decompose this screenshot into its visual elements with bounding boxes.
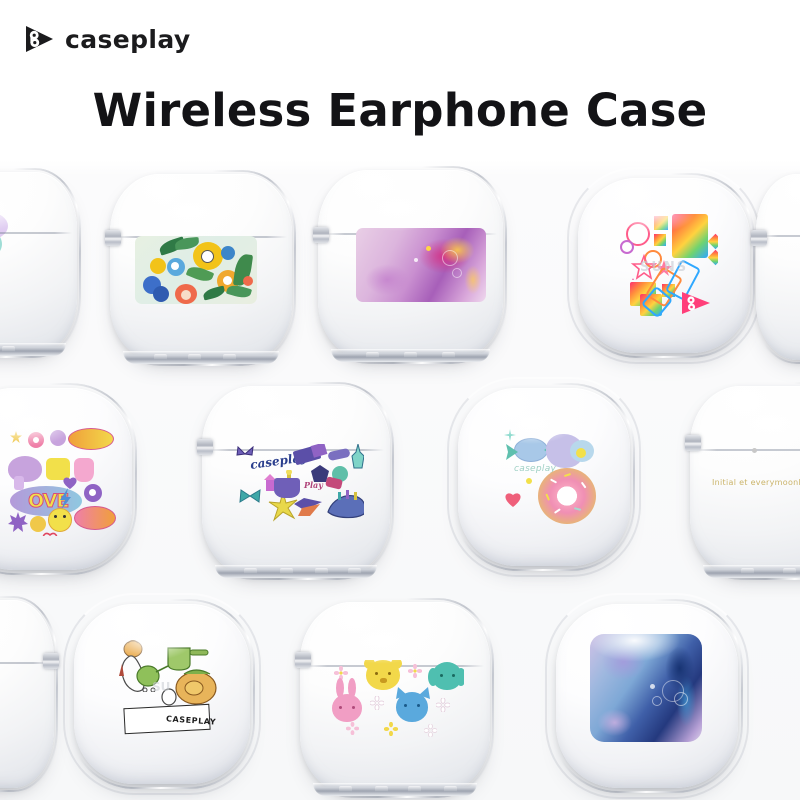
case-r3c1-kitchen-doodles[interactable]: SU CASEPLAY — [74, 604, 250, 784]
brand-name: caseplay — [65, 25, 191, 54]
case-r1c2-pink-marble[interactable] — [318, 170, 503, 360]
artwork-animal-faces — [328, 660, 464, 738]
artwork-gold-lettering: Initial et everymoonlite — [712, 478, 800, 487]
case-r1c0-typography-blobs[interactable]: EY m AY — [0, 172, 77, 354]
page-title: Wireless Earphone Case — [0, 84, 800, 137]
case-r2c1-purple-doodles[interactable]: caseplay Play — [202, 386, 390, 576]
brand-logo[interactable]: caseplay — [22, 22, 191, 56]
artwork-purple-doodles: caseplay Play — [232, 444, 364, 526]
product-grid: EY m AY — [0, 160, 800, 800]
artwork-pink-marble — [356, 228, 486, 302]
case-r1c3-rainbow-geometry[interactable]: SUNS — [578, 178, 750, 353]
case-r1c1-floral[interactable] — [110, 174, 292, 362]
case-r2c0-sticker-collage[interactable]: OVE — [0, 388, 132, 570]
artwork-floral — [135, 236, 257, 304]
case-r3c2-animal-faces[interactable] — [300, 602, 490, 794]
case-r2c2-pastel-sweets[interactable]: caseplay — [458, 388, 630, 566]
case-r3c0-clear-plain[interactable] — [0, 600, 54, 788]
product-banner-page: caseplay Wireless Earphone Case EY m AY — [0, 0, 800, 800]
case-r3c3-blue-marble[interactable] — [556, 604, 738, 788]
case-r2c3-minimal-gold[interactable]: Initial et everymoonlite — [690, 386, 800, 576]
case-r1c4-clear-plain[interactable] — [756, 174, 800, 360]
play-triangle-cp-logo-icon — [22, 22, 56, 56]
